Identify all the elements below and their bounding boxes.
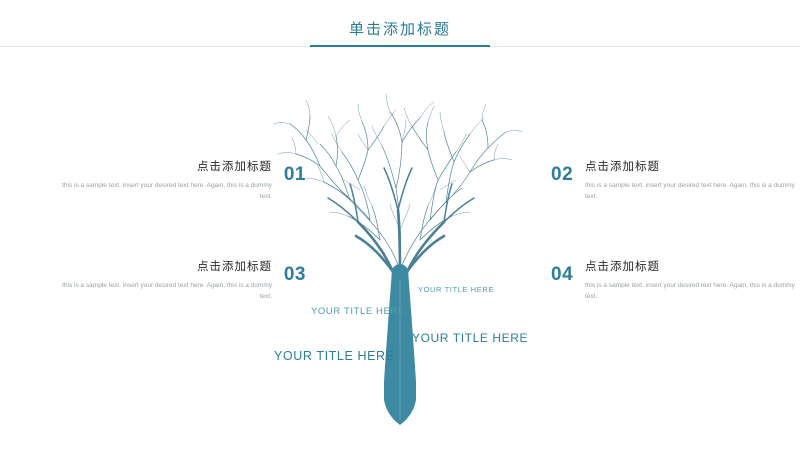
item-body-04: this is a sample text. insert your desir…: [585, 280, 797, 302]
slide-title-container: 单击添加标题: [0, 18, 800, 46]
tree-label-2: YOUR TITLE HERE: [311, 306, 405, 317]
item-body-01: this is a sample text. insert your desir…: [60, 180, 272, 202]
content-item-04[interactable]: 04 点击添加标题 this is a sample text. insert …: [585, 258, 797, 302]
content-item-03[interactable]: 03 点击添加标题 this is a sample text. insert …: [60, 258, 272, 302]
slide-canvas: 单击添加标题: [0, 0, 800, 450]
item-heading-02: 点击添加标题: [585, 158, 797, 174]
page-title: 单击添加标题: [349, 18, 451, 46]
tree-illustration: [250, 80, 550, 425]
tree-label-3: YOUR TITLE HERE: [412, 331, 528, 345]
title-divider-accent: [310, 45, 490, 47]
tree-label-4: YOUR TITLE HERE: [274, 349, 395, 363]
tree-label-1: YOUR TITLE HERE: [418, 285, 494, 294]
item-heading-03: 点击添加标题: [60, 258, 272, 274]
item-body-02: this is a sample text. insert your desir…: [585, 180, 797, 202]
item-number-02: 02: [551, 164, 573, 186]
content-item-02[interactable]: 02 点击添加标题 this is a sample text. insert …: [585, 158, 797, 202]
item-number-03: 03: [284, 264, 306, 286]
item-heading-01: 点击添加标题: [60, 158, 272, 174]
item-body-03: this is a sample text. insert your desir…: [60, 280, 272, 302]
item-heading-04: 点击添加标题: [585, 258, 797, 274]
item-number-04: 04: [551, 264, 573, 286]
content-item-01[interactable]: 01 点击添加标题 this is a sample text. insert …: [60, 158, 272, 202]
item-number-01: 01: [284, 164, 306, 186]
